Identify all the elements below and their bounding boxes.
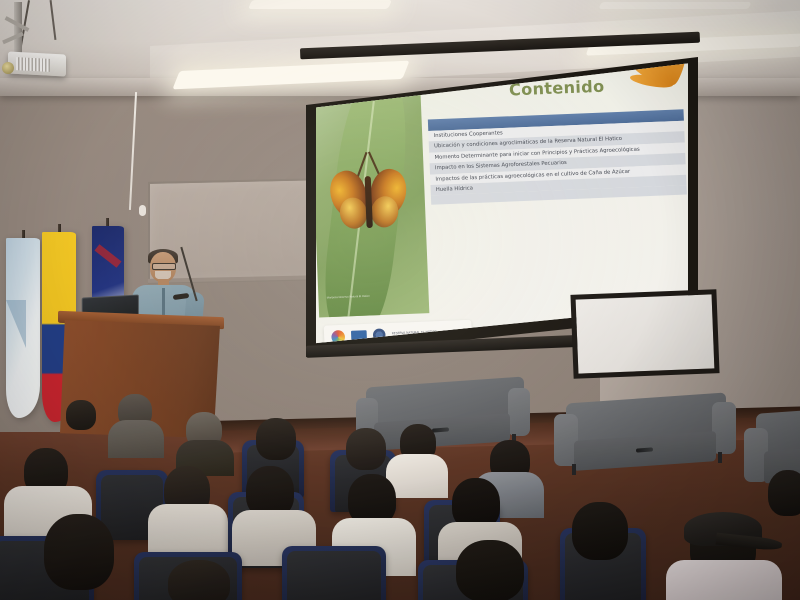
butterfly-icon [328,164,412,236]
projector-lens-icon [2,62,14,74]
wall-frame [570,289,719,379]
audience-torso [666,560,782,600]
audience-head [256,418,296,460]
audience-head [44,514,114,590]
audience-torso [148,504,228,558]
sofa-arm-right [508,388,530,436]
audience-head [456,540,524,600]
auditorium-chair[interactable] [282,546,386,600]
chair-cushion [287,551,381,600]
audience-head [346,428,386,470]
butterfly-photo: Mariposa Reserva Natural El Hatico [316,82,429,317]
cord-tip [139,205,146,216]
audience-torso [108,420,164,458]
audience-head [66,400,96,430]
sofa-leg [718,452,722,463]
auditorium-presentation-scene: Mariposa Reserva Natural El Hatico Conte… [0,0,800,600]
audience-head [168,560,230,600]
audience-head [572,502,628,560]
slide-contents-table: Instituciones Cooperantes Ubicación y co… [428,109,687,205]
panel-light-3 [248,0,392,9]
projector-vent-icon [16,57,50,72]
audience-head [768,470,800,516]
sofa-leg [572,464,576,475]
glasses-icon [152,263,176,270]
photo-credit: Mariposa Reserva Natural El Hatico [327,294,392,309]
flag-white-detail [6,300,26,348]
panel-light-4 [599,2,752,9]
